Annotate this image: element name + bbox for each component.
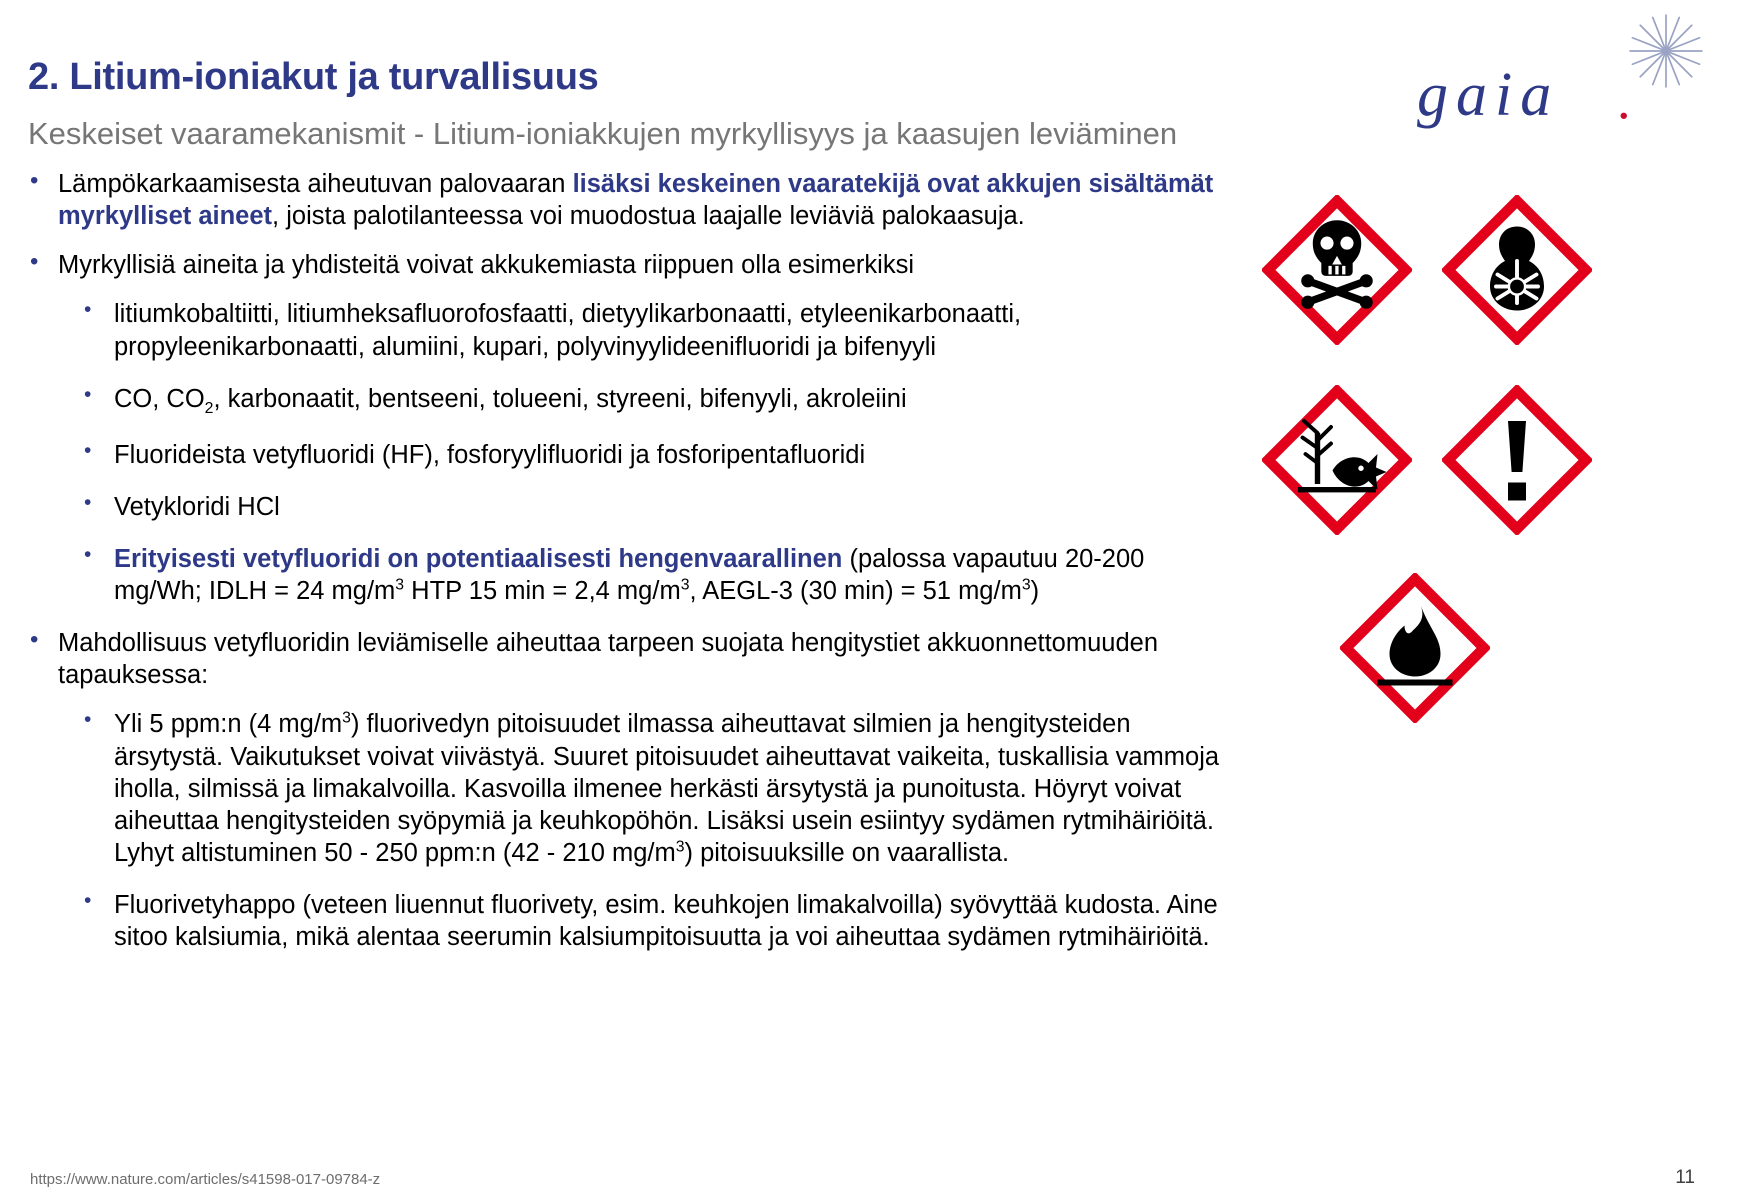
- bullet-co-co2: CO, CO2, karbonaatit, bentseeni, tolueen…: [76, 383, 1235, 419]
- text-segment: Yli 5 ppm:n (4 mg/m: [114, 710, 342, 738]
- gaia-logo: gaia .: [1417, 40, 1687, 130]
- text-segment: 3: [395, 577, 404, 594]
- ghs-skull-and-crossbones-icon: [1262, 195, 1412, 345]
- bullet-palovaara: Lämpökarkaamisesta aiheutuvan palovaaran…: [20, 168, 1235, 232]
- text-segment: Mahdollisuus vetyfluoridin leviämiselle …: [58, 629, 1158, 689]
- text-segment: Lämpökarkaamisesta aiheutuvan palovaaran: [58, 170, 573, 198]
- text-segment: , joista palotilanteessa voi muodostua l…: [272, 202, 1025, 230]
- text-segment: Vetykloridi HCl: [114, 493, 280, 521]
- starburst-icon: [1627, 12, 1705, 90]
- text-segment: ) pitoisuuksille on vaarallista.: [685, 839, 1010, 867]
- text-segment: 3: [342, 710, 351, 727]
- ghs-health-hazard-icon: [1442, 195, 1592, 345]
- ghs-flame-icon: [1340, 573, 1490, 723]
- logo-wordmark: gaia: [1417, 60, 1559, 131]
- text-segment: Fluorideista vetyfluoridi (HF), fosforyy…: [114, 441, 865, 469]
- ghs-exclamation-mark-icon: [1442, 385, 1592, 535]
- text-segment: litiumkobaltiitti, litiumheksafluorofosf…: [114, 300, 1021, 360]
- bullet-fluoridit: Fluorideista vetyfluoridi (HF), fosforyy…: [76, 439, 1235, 471]
- logo-dot: .: [1617, 92, 1631, 108]
- text-segment: , karbonaatit, bentseeni, tolueeni, styr…: [213, 385, 906, 413]
- source-url[interactable]: https://www.nature.com/articles/s41598-0…: [30, 1171, 380, 1188]
- bullet-yhdisteet-lista: litiumkobaltiitti, litiumheksafluorofosf…: [76, 298, 1235, 362]
- text-segment: 3: [1022, 577, 1031, 594]
- page-title: 2. Litium-ioniakut ja turvallisuus: [28, 56, 598, 99]
- bullet-fluorivetyhappo: Fluorivetyhappo (veteen liuennut fluoriv…: [76, 889, 1235, 953]
- page-subtitle: Keskeiset vaaramekanismit - Litium-ionia…: [28, 116, 1177, 152]
- ghs-environment-icon: [1262, 385, 1412, 535]
- bullet-vetyfluoridi-hengenvaarallinen: Erityisesti vetyfluoridi on potentiaalis…: [76, 543, 1235, 607]
- bullet-vetykloridi: Vetykloridi HCl: [76, 491, 1235, 523]
- bullet-myrkylliset-aineet: Myrkyllisiä aineita ja yhdisteitä voivat…: [20, 249, 1235, 281]
- ghs-pictogram-group: [1262, 195, 1682, 755]
- text-segment: Myrkyllisiä aineita ja yhdisteitä voivat…: [58, 251, 914, 279]
- page-number: 11: [1675, 1167, 1695, 1189]
- slide-body: Lämpökarkaamisesta aiheutuvan palovaaran…: [20, 168, 1235, 973]
- bullet-suojaus-hengitystiet: Mahdollisuus vetyfluoridin leviämiselle …: [20, 627, 1235, 691]
- text-segment: Erityisesti vetyfluoridi on potentiaalis…: [114, 545, 842, 573]
- text-segment: Fluorivetyhappo (veteen liuennut fluoriv…: [114, 891, 1218, 951]
- text-segment: ): [1031, 577, 1040, 605]
- text-segment: HTP 15 min = 2,4 mg/m: [404, 577, 681, 605]
- text-segment: 3: [676, 838, 685, 855]
- text-segment: CO, CO: [114, 385, 205, 413]
- text-segment: , AEGL-3 (30 min) = 51 mg/m: [689, 577, 1021, 605]
- bullet-pitoisuudet-vaikutukset: Yli 5 ppm:n (4 mg/m3) fluorivedyn pitois…: [76, 708, 1235, 869]
